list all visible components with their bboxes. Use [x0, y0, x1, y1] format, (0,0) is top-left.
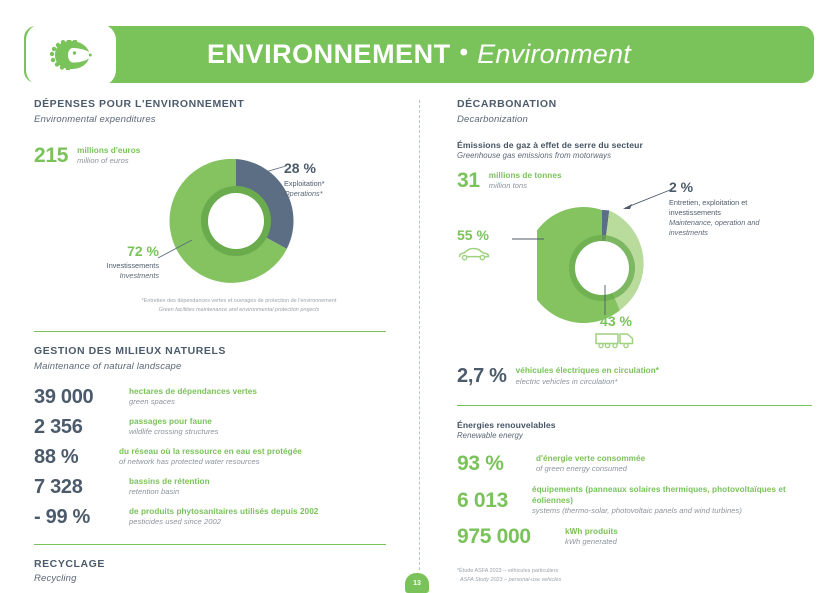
footnote-en: Green facilities maintenance and environ… — [94, 306, 384, 315]
subheading-fr: Émissions de gaz à effet de serre du sec… — [457, 140, 812, 150]
stat-value: 215 — [34, 145, 68, 166]
leader-line-43 — [602, 285, 608, 317]
subheading-en: Renewable energy — [457, 431, 812, 440]
stat-label-en: wildlife crossing structures — [129, 427, 218, 436]
section-divider — [457, 405, 812, 406]
stat-label-fr: du réseau où la ressource en eau est pro… — [119, 447, 302, 457]
stat-value: 39 000 — [34, 387, 120, 407]
stat-label-en: retention basin — [129, 487, 210, 496]
section-subtitle: Maintenance of natural landscape — [34, 360, 386, 374]
section-subtitle: Decarbonization — [457, 113, 812, 127]
left-column: DÉPENSES POUR L'ENVIRONNEMENT Environmen… — [34, 98, 386, 593]
callout-value: 2 % — [669, 180, 777, 194]
leader-line-28 — [248, 163, 288, 179]
logo-badge — [26, 24, 116, 86]
callout-label-en: Operations* — [284, 189, 394, 199]
footnote-fr: *Entretien des dépendances vertes et ouv… — [94, 297, 384, 306]
stat-31: 31 millions de tonnes million tons — [457, 170, 562, 191]
stat-label-en: systems (thermo-solar, photovoltaic pane… — [532, 506, 812, 515]
callout-value: 55 % — [457, 228, 519, 242]
stat-label-fr: millions d'euros — [77, 146, 140, 156]
callout-label-fr: Investissements — [34, 261, 159, 271]
stat-label-fr: bassins de rétention — [129, 477, 210, 487]
stat-27pct: 2,7 % véhicules électriques en circulati… — [457, 366, 659, 386]
callout-value: 28 % — [284, 161, 394, 175]
callout-28: 28 % Exploitation* Operations* — [284, 161, 394, 199]
right-column: DÉCARBONATION Decarbonization Émissions … — [457, 98, 812, 585]
callout-label-fr: Exploitation* — [284, 179, 394, 189]
section-subtitle: Environmental expenditures — [34, 113, 386, 127]
page-number-badge: 13 — [405, 573, 429, 593]
page-title-en: Environment — [477, 39, 631, 70]
section-title: GESTION DES MILIEUX NATURELS — [34, 345, 386, 358]
stat-label-en: electric vehicles in circulation* — [516, 377, 659, 386]
callout-55: 55 % — [457, 228, 519, 267]
leader-line-72 — [158, 239, 194, 261]
callout-label-fr: Entretien, exploitation et investissemen… — [669, 198, 777, 218]
stat-value: 6 013 — [457, 490, 523, 511]
section-decarbonization: DÉCARBONATION Decarbonization Émissions … — [457, 98, 812, 406]
stat-label-fr: véhicules électriques en circulation* — [516, 366, 659, 376]
section-recycling: RECYCLAGE Recycling 99 % des aires (serv… — [34, 558, 386, 593]
stat-minus99: - 99 % de produits phytosanitaires utili… — [34, 507, 386, 527]
truck-icon — [594, 337, 638, 354]
stat-label-fr: millions de tonnes — [489, 171, 562, 181]
callout-label-en: Maintenance, operation and investments — [669, 218, 777, 238]
stat-label-en: million tons — [489, 181, 562, 190]
stat-value: 975 000 — [457, 526, 556, 547]
expenditures-chart-area: 215 millions d'euros million of euros — [34, 139, 386, 331]
stat-975000: 975 000 kWh produits kWh generated — [457, 526, 812, 547]
callout-value: 72 % — [34, 244, 159, 258]
stat-label-fr: kWh produits — [565, 527, 618, 537]
stat-88pct: 88 % du réseau où la ressource en eau es… — [34, 447, 386, 467]
page-title-fr: ENVIRONNEMENT — [207, 39, 451, 70]
stat-label-fr: d'énergie verte consommée — [536, 454, 645, 464]
section-renewable-energy: Énergies renouvelables Renewable energy … — [457, 420, 812, 585]
footnote-fr: *Étude ASFA 2023 – véhicules particulier… — [457, 567, 812, 576]
stat-value: 88 % — [34, 447, 110, 467]
section-subtitle: Recycling — [34, 572, 386, 586]
stat-label-fr: de produits phytosanitaires utilisés dep… — [129, 507, 318, 517]
stat-value: 31 — [457, 170, 480, 191]
stat-label-en: of green energy consumed — [536, 464, 645, 473]
stat-label-fr: passages pour faune — [129, 417, 218, 427]
stat-215: 215 millions d'euros million of euros — [34, 145, 140, 166]
expenditures-footnote: *Entretien des dépendances vertes et ouv… — [94, 297, 384, 315]
section-divider — [34, 331, 386, 332]
stat-value: 93 % — [457, 453, 527, 474]
stat-93pct: 93 % d'énergie verte consommée of green … — [457, 453, 812, 474]
stat-label-en: kWh generated — [565, 537, 618, 546]
hedgehog-icon — [49, 40, 93, 70]
footnote-en: ASFA Study 2023 – personal-use vehicles — [457, 576, 812, 585]
callout-value: 43 % — [561, 314, 671, 328]
section-natural-landscape: GESTION DES MILIEUX NATURELS Maintenance… — [34, 345, 386, 544]
section-title: RECYCLAGE — [34, 558, 386, 571]
stat-7328: 7 328 bassins de rétention retention bas… — [34, 477, 386, 497]
section-title: DÉCARBONATION — [457, 98, 812, 111]
stat-label-fr: hectares de dépendances vertes — [129, 387, 257, 397]
subheading-en: Greenhouse gas emissions from motorways — [457, 151, 812, 160]
page-root: ENVIRONNEMENT • Environment — [0, 0, 839, 593]
stat-value: - 99 % — [34, 507, 120, 527]
callout-43: 43 % — [561, 314, 671, 355]
page-title: ENVIRONNEMENT • Environment — [24, 26, 814, 83]
section-divider — [34, 544, 386, 545]
section-environmental-expenditures: DÉPENSES POUR L'ENVIRONNEMENT Environmen… — [34, 98, 386, 332]
leader-line-55 — [512, 236, 546, 242]
stat-label-en: pesticides used since 2002 — [129, 517, 318, 526]
stat-2356: 2 356 passages pour faune wildlife cross… — [34, 417, 386, 437]
stat-39000: 39 000 hectares de dépendances vertes gr… — [34, 387, 386, 407]
subheading-fr: Énergies renouvelables — [457, 420, 812, 430]
stat-label-en: million of euros — [77, 156, 140, 165]
stat-value: 2,7 % — [457, 366, 507, 386]
section-title: DÉPENSES POUR L'ENVIRONNEMENT — [34, 98, 386, 111]
stat-6013: 6 013 équipements (panneaux solaires the… — [457, 485, 812, 515]
ghg-subheading: Émissions de gaz à effet de serre du sec… — [457, 140, 812, 160]
renewable-footnote: *Étude ASFA 2023 – véhicules particulier… — [457, 567, 812, 585]
callout-label-en: Investments — [34, 271, 159, 281]
callout-2: 2 % Entretien, exploitation et investiss… — [669, 180, 777, 237]
stat-label-fr: équipements (panneaux solaires thermique… — [532, 485, 812, 506]
leader-line-2 — [622, 188, 672, 210]
title-separator-dot: • — [460, 39, 469, 67]
stat-label-en: green spaces — [129, 397, 257, 406]
car-icon — [457, 249, 491, 266]
ghg-chart-area: 31 millions de tonnes million tons — [457, 170, 812, 405]
column-divider — [419, 100, 420, 570]
stat-value: 2 356 — [34, 417, 120, 437]
callout-72: 72 % Investissements Investments — [34, 244, 159, 281]
stat-value: 7 328 — [34, 477, 120, 497]
page-header: ENVIRONNEMENT • Environment — [24, 26, 814, 83]
stat-label-en: of network has protected water resources — [119, 457, 302, 466]
